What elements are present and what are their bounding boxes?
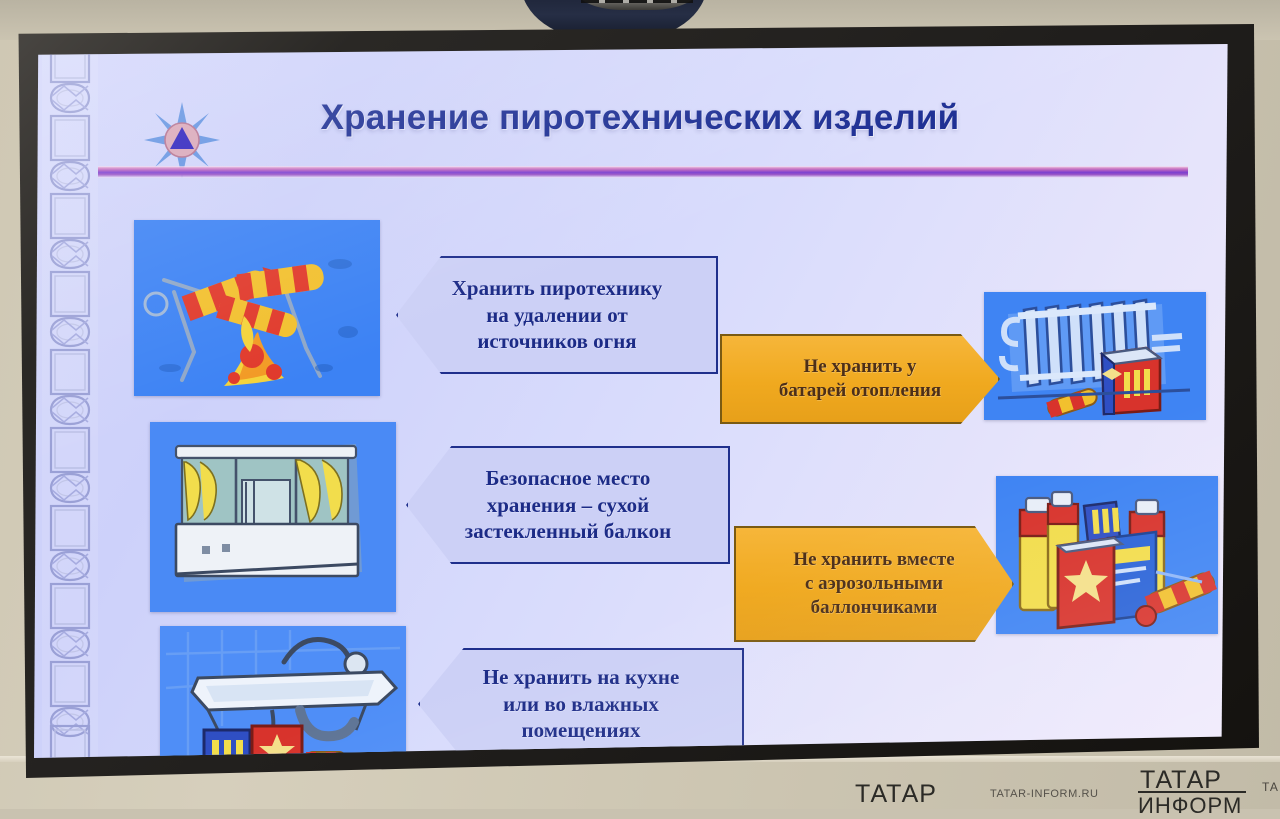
brand-text-website: TATAR-INFORM.RU [990, 788, 1099, 800]
callout-text: Не хранить на кухне или во влажных помещ… [420, 664, 742, 743]
callout-text: Безопасное место хранения – сухой застек… [408, 465, 728, 544]
callout-safe-storage-balcony[interactable]: Безопасное место хранения – сухой застек… [406, 446, 730, 564]
wall-mounted-tv: Хранение пиротехнических изделий [6, 24, 1259, 778]
brand-text-inform: ИНФОРМ [1138, 793, 1242, 819]
callout-not-with-aerosols[interactable]: Не хранить вместе с аэрозольными баллонч… [734, 526, 1014, 642]
room-scene: Хранение пиротехнических изделий [0, 0, 1280, 809]
callout-text: Не хранить вместе с аэрозольными баллонч… [736, 548, 1012, 620]
picture-radiator-with-firework-box [984, 292, 1206, 420]
callout-not-near-radiators[interactable]: Не хранить у батарей отопления [720, 334, 1000, 424]
picture-aerosol-cans-and-firework-boxes [996, 476, 1218, 634]
picture-fireworks-over-open-fire [134, 220, 380, 396]
callout-text: Не хранить у батарей отопления [722, 355, 998, 403]
presentation-slide: Хранение пиротехнических изделий [34, 44, 1230, 758]
picture-kitchen-sink-with-fireworks-below [160, 626, 406, 758]
brand-text-far-right: ТА [1262, 780, 1279, 794]
callout-store-away-from-fire[interactable]: Хранить пиротехнику на удалении от источ… [396, 256, 718, 374]
picture-glazed-balcony [150, 422, 396, 612]
brand-text-tatar-left: ТАТАР [855, 780, 937, 809]
tatar-ornamental-border-icon [42, 44, 98, 758]
callout-text: Хранить пиротехнику на удалении от источ… [398, 275, 716, 354]
callout-not-in-kitchen-or-damp[interactable]: Не хранить на кухне или во влажных помещ… [418, 648, 744, 758]
title-divider [98, 166, 1188, 178]
slide-title: Хранение пиротехнических изделий [260, 98, 1020, 138]
tv-screen: Хранение пиротехнических изделий [34, 44, 1230, 758]
